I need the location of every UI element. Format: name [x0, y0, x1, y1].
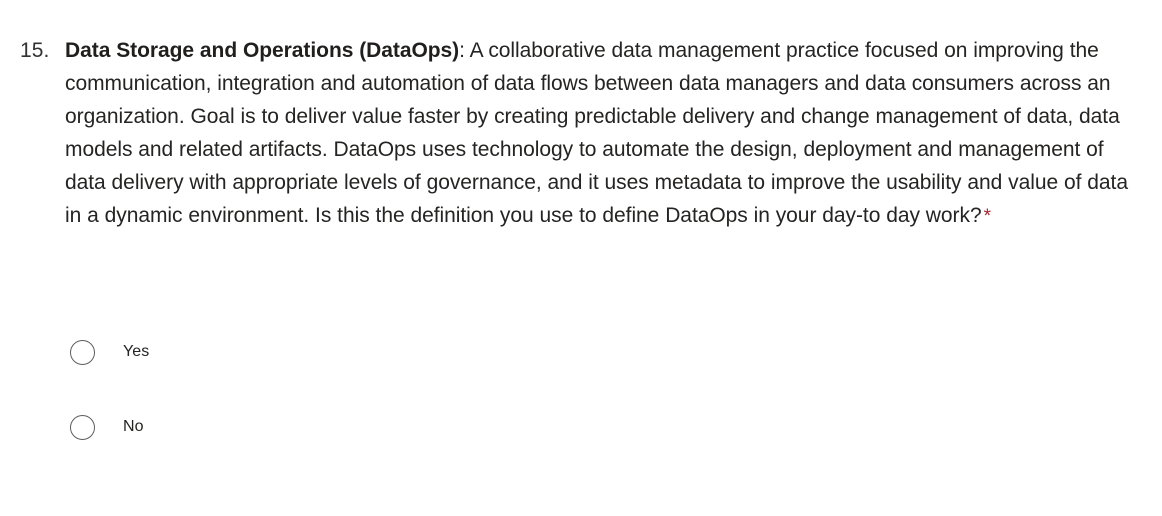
choice-label-yes: Yes	[123, 342, 149, 362]
choice-option-yes[interactable]: Yes	[70, 331, 149, 373]
question-title: Data Storage and Operations (DataOps): A…	[65, 34, 1140, 233]
question-row: 15. Data Storage and Operations (DataOps…	[20, 34, 1140, 233]
choice-option-no[interactable]: No	[70, 406, 149, 448]
required-asterisk: *	[982, 206, 991, 227]
radio-button-yes-icon[interactable]	[70, 340, 95, 365]
question-lead-bold: Data Storage and Operations (DataOps)	[65, 39, 459, 62]
choice-group: Yes No	[70, 331, 149, 481]
radio-button-no-icon[interactable]	[70, 415, 95, 440]
choice-label-no: No	[123, 417, 144, 437]
question-body-text: : A collaborative data management practi…	[65, 39, 1128, 227]
question-number: 15.	[20, 34, 60, 67]
